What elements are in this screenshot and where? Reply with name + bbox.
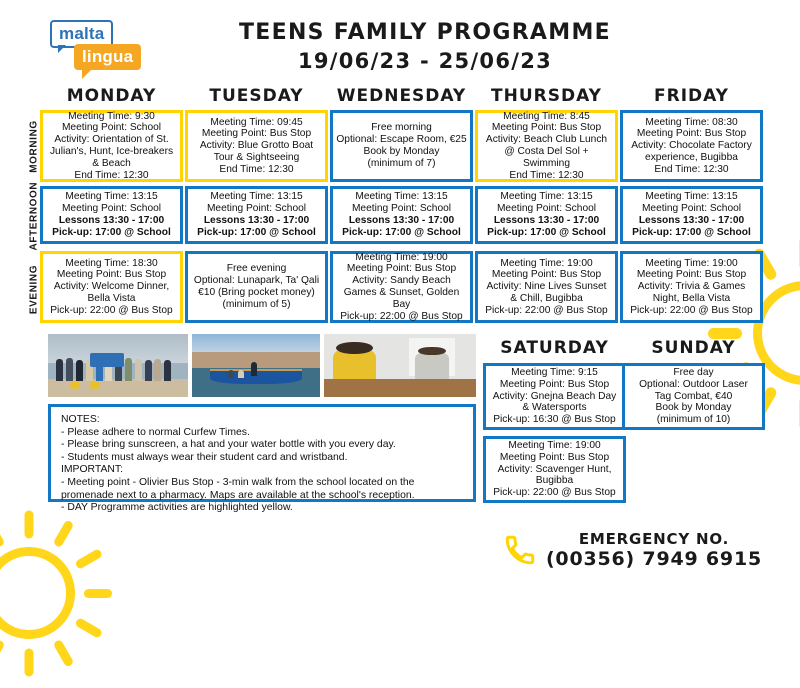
- cell-line: Meeting Time: 8:45: [480, 111, 613, 123]
- cell-line: Meeting Time: 13:15: [480, 191, 613, 203]
- cell-line: Meeting Point: School: [480, 203, 613, 215]
- cell-line: Pick-up: 17:00 @ School: [335, 227, 468, 239]
- cell-line: Lessons 13:30 - 17:00: [335, 215, 468, 227]
- cell-line: Meeting Point: Bus Stop: [488, 452, 621, 464]
- cell-line: Meeting Point: Bus Stop: [335, 263, 468, 275]
- cell-friday-morning: Meeting Time: 08:30Meeting Point: Bus St…: [620, 110, 763, 182]
- cell-line: Activity: Nine Lives Sunset: [480, 281, 613, 293]
- cell-line: Pick-up: 17:00 @ School: [625, 227, 758, 239]
- emergency-number: (00356) 7949 6915: [546, 548, 762, 570]
- cell-saturday-evening: Meeting Time: 19:00Meeting Point: Bus St…: [483, 436, 626, 503]
- cell-line: Lessons 13:30 - 17:00: [45, 215, 178, 227]
- cell-line: Activity: Scavenger Hunt,: [488, 464, 621, 476]
- cell-line: Pick-up: 22:00 @ Bus Stop: [625, 305, 758, 317]
- cell-line: Meeting Time: 09:45: [190, 117, 323, 129]
- cell-monday-evening: Meeting Time: 18:30Meeting Point: Bus St…: [40, 251, 183, 323]
- row-label-morning: MORNING: [29, 117, 40, 177]
- cell-line: Activity: Orientation of St.: [45, 134, 178, 146]
- photo-maltese-boat: [192, 334, 320, 397]
- cell-line: & Beach: [45, 158, 178, 170]
- cell-line: Meeting Point: Bus Stop: [190, 128, 323, 140]
- cell-line: Games & Sunset, Golden Bay: [335, 287, 468, 311]
- cell-line: Optional: Outdoor Laser: [627, 379, 760, 391]
- day-header-thursday: THURSDAY: [475, 86, 618, 106]
- emergency-label: EMERGENCY NO.: [546, 530, 762, 548]
- sun-ray: [0, 519, 5, 548]
- sun-ray: [25, 648, 34, 676]
- cell-line: Free day: [627, 367, 760, 379]
- cell-tuesday-evening: Free eveningOptional: Lunapark, Ta' Qali…: [185, 251, 328, 323]
- cell-wednesday-morning: Free morningOptional: Escape Room, €25Bo…: [330, 110, 473, 182]
- cell-line: Meeting Time: 13:15: [335, 191, 468, 203]
- cell-tuesday-afternoon: Meeting Time: 13:15Meeting Point: School…: [185, 186, 328, 244]
- cell-line: Pick-up: 17:00 @ School: [45, 227, 178, 239]
- maltalingua-logo: malta lingua: [44, 18, 148, 74]
- cell-line: Bella Vista: [45, 293, 178, 305]
- cell-saturday-day: Meeting Time: 9:15Meeting Point: Bus Sto…: [483, 363, 626, 430]
- cell-line: Activity: Gnejna Beach Day: [488, 391, 621, 403]
- cell-line: (minimum of 5): [190, 299, 323, 311]
- day-header-wednesday: WEDNESDAY: [330, 86, 473, 106]
- cell-line: Activity: Sandy Beach: [335, 275, 468, 287]
- day-header-sunday: SUNDAY: [622, 338, 765, 358]
- sun-ray: [25, 510, 34, 538]
- notes-line-2: - Please bring sunscreen, a hat and your…: [61, 439, 463, 452]
- cell-thursday-evening: Meeting Time: 19:00Meeting Point: Bus St…: [475, 251, 618, 323]
- title-date-range: 19/06/23 - 25/06/23: [210, 49, 640, 73]
- cell-line: Meeting Point: Bus Stop: [625, 128, 758, 140]
- sun-decoration-bottom-left: [0, 498, 124, 688]
- cell-line: Meeting Point: Bus Stop: [480, 269, 613, 281]
- cell-line: €10 (Bring pocket money): [190, 287, 323, 299]
- cell-wednesday-evening: Meeting Time: 19:00Meeting Point: Bus St…: [330, 251, 473, 323]
- logo-word-lingua: lingua: [74, 44, 141, 70]
- day-header-saturday: SATURDAY: [483, 338, 626, 358]
- notes-line-6: promenade next to a pharmacy. Maps are a…: [61, 490, 463, 503]
- title-main: TEENS FAMILY PROGRAMME: [210, 20, 640, 45]
- cell-line: Meeting Time: 18:30: [45, 258, 178, 270]
- cell-line: Optional: Escape Room, €25: [335, 134, 468, 146]
- sun-ray: [53, 638, 75, 667]
- cell-line: Book by Monday: [335, 146, 468, 158]
- cell-line: Meeting Point: School: [335, 203, 468, 215]
- sun-core: [0, 547, 75, 639]
- cell-line: Meeting Time: 13:15: [625, 191, 758, 203]
- cell-monday-afternoon: Meeting Time: 13:15Meeting Point: School…: [40, 186, 183, 244]
- cell-line: Meeting Time: 19:00: [335, 252, 468, 264]
- sun-ray: [84, 589, 112, 598]
- cell-line: Meeting Time: 9:15: [488, 367, 621, 379]
- row-label-evening: EVENING: [29, 260, 40, 320]
- cell-line: Meeting Time: 19:00: [625, 258, 758, 270]
- cell-line: Julian's, Hunt, Ice-breakers: [45, 146, 178, 158]
- cell-line: Meeting Time: 9:30: [45, 111, 178, 123]
- cell-line: Activity: Welcome Dinner,: [45, 281, 178, 293]
- cell-line: Meeting Point: Bus Stop: [480, 122, 613, 134]
- notes-line-5: - Meeting point - Olivier Bus Stop - 3-m…: [61, 477, 463, 490]
- cell-line: Lessons 13:30 - 17:00: [625, 215, 758, 227]
- photo-classroom: [324, 334, 476, 397]
- cell-line: Pick-up: 22:00 @ Bus Stop: [488, 487, 621, 499]
- cell-line: experience, Bugibba: [625, 152, 758, 164]
- cell-line: End Time: 12:30: [190, 164, 323, 176]
- cell-sunday-day: Free dayOptional: Outdoor LaserTag Comba…: [622, 363, 765, 430]
- cell-line: Pick-up: 22:00 @ Bus Stop: [480, 305, 613, 317]
- notes-line-7: - DAY Programme activities are highlight…: [61, 502, 463, 515]
- day-header-monday: MONDAY: [40, 86, 183, 106]
- sun-ray: [53, 519, 75, 548]
- cell-line: Meeting Point: School: [45, 122, 178, 134]
- cell-line: Pick-up: 22:00 @ Bus Stop: [335, 311, 468, 323]
- cell-line: Pick-up: 17:00 @ School: [190, 227, 323, 239]
- cell-line: Book by Monday: [627, 402, 760, 414]
- cell-line: Activity: Chocolate Factory: [625, 140, 758, 152]
- cell-line: Meeting Time: 13:15: [45, 191, 178, 203]
- cell-tuesday-morning: Meeting Time: 09:45Meeting Point: Bus St…: [185, 110, 328, 182]
- cell-line: Meeting Point: School: [625, 203, 758, 215]
- notes-line-3: - Students must always wear their studen…: [61, 452, 463, 465]
- cell-line: Bugibba: [488, 475, 621, 487]
- cell-line: End Time: 12:30: [45, 170, 178, 182]
- cell-line: Pick-up: 22:00 @ Bus Stop: [45, 305, 178, 317]
- cell-line: Meeting Time: 19:00: [480, 258, 613, 270]
- cell-thursday-morning: Meeting Time: 8:45Meeting Point: Bus Sto…: [475, 110, 618, 182]
- notes-line-1: - Please adhere to normal Curfew Times.: [61, 427, 463, 440]
- cell-line: Meeting Point: Bus Stop: [488, 379, 621, 391]
- sun-ray: [708, 328, 742, 339]
- cell-thursday-afternoon: Meeting Time: 13:15Meeting Point: School…: [475, 186, 618, 244]
- page-title: TEENS FAMILY PROGRAMME 19/06/23 - 25/06/…: [210, 20, 640, 73]
- cell-line: Meeting Time: 19:00: [488, 440, 621, 452]
- cell-line: & Chill, Bugibba: [480, 293, 613, 305]
- cell-line: @ Costa Del Sol + Swimming: [480, 146, 613, 170]
- notes-line-4: IMPORTANT:: [61, 464, 463, 477]
- cell-line: Night, Bella Vista: [625, 293, 758, 305]
- phone-icon: [503, 533, 537, 567]
- cell-line: Meeting Time: 08:30: [625, 117, 758, 129]
- cell-line: Meeting Point: Bus Stop: [45, 269, 178, 281]
- cell-wednesday-afternoon: Meeting Time: 13:15Meeting Point: School…: [330, 186, 473, 244]
- notes-box: NOTES:- Please adhere to normal Curfew T…: [48, 404, 476, 502]
- cell-line: Activity: Trivia & Games: [625, 281, 758, 293]
- sun-ray: [0, 638, 5, 667]
- sun-ray: [74, 548, 103, 570]
- cell-line: Lessons 13:30 - 17:00: [190, 215, 323, 227]
- cell-line: Tag Combat, €40: [627, 391, 760, 403]
- cell-line: End Time: 12:30: [480, 170, 613, 182]
- cell-monday-morning: Meeting Time: 9:30Meeting Point: SchoolA…: [40, 110, 183, 182]
- notes-line-0: NOTES:: [61, 414, 463, 427]
- cell-friday-evening: Meeting Time: 19:00Meeting Point: Bus St…: [620, 251, 763, 323]
- photo-beach-group: [48, 334, 188, 397]
- day-header-friday: FRIDAY: [620, 86, 763, 106]
- cell-line: Pick-up: 17:00 @ School: [480, 227, 613, 239]
- cell-line: Lessons 13:30 - 17:00: [480, 215, 613, 227]
- cell-line: Meeting Point: Bus Stop: [625, 269, 758, 281]
- cell-line: Free morning: [335, 122, 468, 134]
- cell-line: Meeting Point: School: [190, 203, 323, 215]
- cell-line: (minimum of 10): [627, 414, 760, 426]
- sun-ray: [74, 617, 103, 639]
- cell-line: Pick-up: 16:30 @ Bus Stop: [488, 414, 621, 426]
- day-header-tuesday: TUESDAY: [185, 86, 328, 106]
- cell-line: & Watersports: [488, 402, 621, 414]
- cell-line: Activity: Beach Club Lunch: [480, 134, 613, 146]
- cell-line: (minimum of 7): [335, 158, 468, 170]
- emergency-contact: EMERGENCY NO. (00356) 7949 6915: [503, 530, 762, 570]
- row-label-afternoon: AFTERNOON: [29, 191, 40, 251]
- cell-line: Free evening: [190, 263, 323, 275]
- cell-friday-afternoon: Meeting Time: 13:15Meeting Point: School…: [620, 186, 763, 244]
- cell-line: End Time: 12:30: [625, 164, 758, 176]
- cell-line: Meeting Point: School: [45, 203, 178, 215]
- cell-line: Optional: Lunapark, Ta' Qali: [190, 275, 323, 287]
- cell-line: Activity: Blue Grotto Boat: [190, 140, 323, 152]
- cell-line: Meeting Time: 13:15: [190, 191, 323, 203]
- cell-line: Tour & Sightseeing: [190, 152, 323, 164]
